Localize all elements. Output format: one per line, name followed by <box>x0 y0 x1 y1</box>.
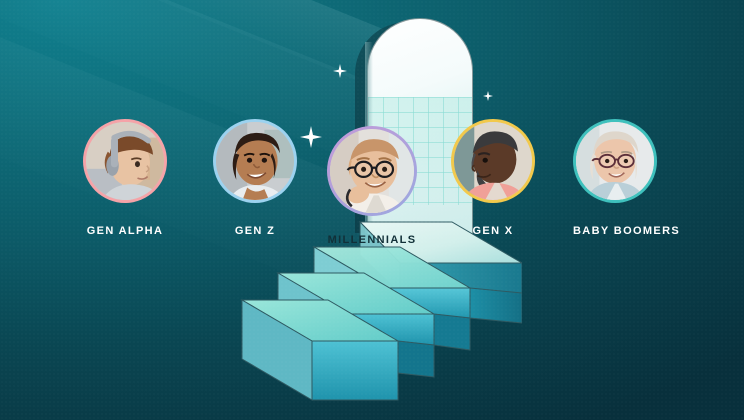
generation-card-baby-boomers[interactable]: BABY BOOMERS <box>573 119 657 237</box>
generation-card-gen-z[interactable]: GEN Z <box>213 119 297 237</box>
generation-card-gen-alpha[interactable]: GEN ALPHA <box>83 119 167 237</box>
avatar-ring-gen-alpha <box>83 119 167 203</box>
generation-card-millennials[interactable]: MILLENNIALS <box>327 126 417 246</box>
generation-label-baby-boomers: BABY BOOMERS <box>573 225 657 237</box>
avatar-millennials <box>330 129 414 213</box>
avatar-baby-boomers <box>576 122 654 200</box>
sparkle-small-upper-icon <box>333 64 347 78</box>
generation-label-gen-alpha: GEN ALPHA <box>83 225 167 237</box>
avatar-ring-gen-z <box>213 119 297 203</box>
avatar-ring-gen-x <box>451 119 535 203</box>
avatar-gen-x <box>454 122 532 200</box>
generation-label-millennials: MILLENNIALS <box>327 234 417 246</box>
generation-card-gen-x[interactable]: GEN X <box>451 119 535 237</box>
avatar-gen-alpha <box>86 122 164 200</box>
avatar-gen-z <box>216 122 294 200</box>
sparkle-large-lower-icon <box>300 126 322 148</box>
illustration-canvas: GEN ALPHA <box>0 0 744 420</box>
sparkle-tiny-right-icon <box>483 91 493 101</box>
generation-label-gen-z: GEN Z <box>213 225 297 237</box>
generation-label-gen-x: GEN X <box>451 225 535 237</box>
avatar-ring-baby-boomers <box>573 119 657 203</box>
avatar-ring-millennials <box>327 126 417 216</box>
